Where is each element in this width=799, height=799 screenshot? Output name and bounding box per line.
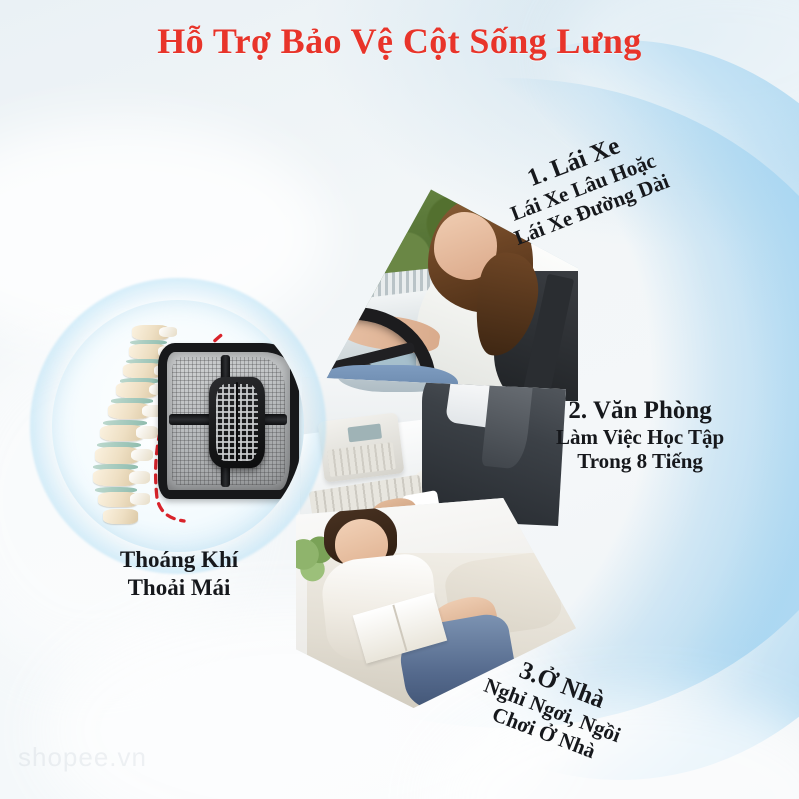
scene-photo-office	[300, 374, 566, 526]
scene-line-3: Trong 8 Tiếng	[556, 449, 724, 473]
product-closeup-circle	[52, 300, 304, 552]
scene-line-2: Làm Việc Học Tập	[556, 425, 724, 449]
scene-heading: 2. Văn Phòng	[556, 396, 724, 425]
caption-line-1: Thoáng Khí	[44, 546, 314, 574]
watermark: shopee.vn	[18, 742, 147, 773]
product-caption: Thoáng Khí Thoải Mái	[44, 546, 314, 602]
lumbar-support-product	[158, 343, 299, 499]
scene-label-office: 2. Văn Phòng Làm Việc Học Tập Trong 8 Ti…	[556, 396, 724, 474]
caption-line-2: Thoải Mái	[44, 574, 314, 602]
product-infographic: Hỗ Trợ Bảo Vệ Cột Sống Lưng	[0, 0, 799, 799]
